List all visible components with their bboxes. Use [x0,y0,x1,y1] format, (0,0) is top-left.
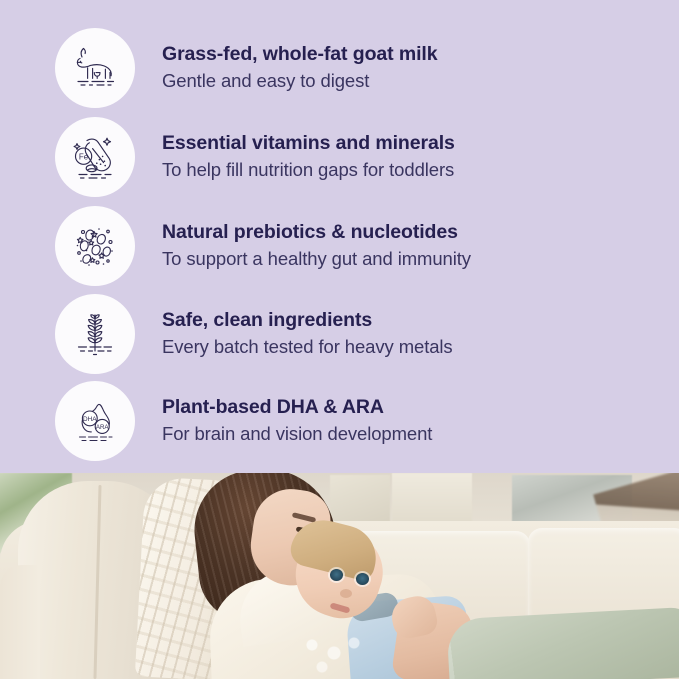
probiotic-bacteria-icon [55,206,135,286]
toddler-eye [356,573,369,585]
feature-item-dha-ara: DHA ARA Plant-based DHA & ARA For brain … [55,381,655,461]
feature-text-block: Grass-fed, whole-fat goat milk Gentle an… [162,43,437,92]
lifestyle-photo [0,473,679,679]
blanket-folds [446,607,679,679]
feature-subtitle: For brain and vision development [162,422,432,445]
sage-blanket [446,607,679,679]
goat-icon [55,28,135,108]
doorway [392,473,472,523]
feature-item-prebiotics: Natural prebiotics & nucleotides To supp… [55,206,655,286]
feature-title: Essential vitamins and minerals [162,132,455,155]
toddler-eye [330,569,343,581]
feature-text-block: Plant-based DHA & ARA For brain and visi… [162,396,432,445]
feature-item-clean-ingredients: Safe, clean ingredients Every batch test… [55,294,655,374]
feature-text-block: Natural prebiotics & nucleotides To supp… [162,221,471,270]
feature-title: Natural prebiotics & nucleotides [162,221,471,244]
feature-subtitle: Every batch tested for heavy metals [162,335,453,358]
feature-item-goat-milk: Grass-fed, whole-fat goat milk Gentle an… [55,28,655,108]
sofa-arm-secondary [0,565,40,679]
feature-title: Safe, clean ingredients [162,309,453,332]
feature-subtitle: Gentle and easy to digest [162,69,437,92]
photo-scene [0,473,679,679]
toddler-nose [340,589,352,598]
feature-subtitle: To help fill nutrition gaps for toddlers [162,158,455,181]
feature-subtitle: To support a healthy gut and immunity [162,247,471,270]
feature-item-vitamins: Fe Essential vitamins and minerals To he… [55,117,655,197]
feature-text-block: Safe, clean ingredients Every batch test… [162,309,453,358]
lace-detail [300,633,370,679]
feature-title: Plant-based DHA & ARA [162,396,432,419]
feature-text-block: Essential vitamins and minerals To help … [162,132,455,181]
feature-list: Grass-fed, whole-fat goat milk Gentle an… [0,0,679,473]
fe-icon-label: Fe [79,152,89,161]
dha-icon-label: DHA [83,416,97,423]
feature-title: Grass-fed, whole-fat goat milk [162,43,437,66]
dha-ara-icon: DHA ARA [55,381,135,461]
wheat-stalk-icon [55,294,135,374]
ara-icon-label: ARA [96,424,110,431]
window-middle [330,475,390,523]
product-benefits-infographic: Grass-fed, whole-fat goat milk Gentle an… [0,0,679,679]
vitamin-capsule-icon: Fe [55,117,135,197]
